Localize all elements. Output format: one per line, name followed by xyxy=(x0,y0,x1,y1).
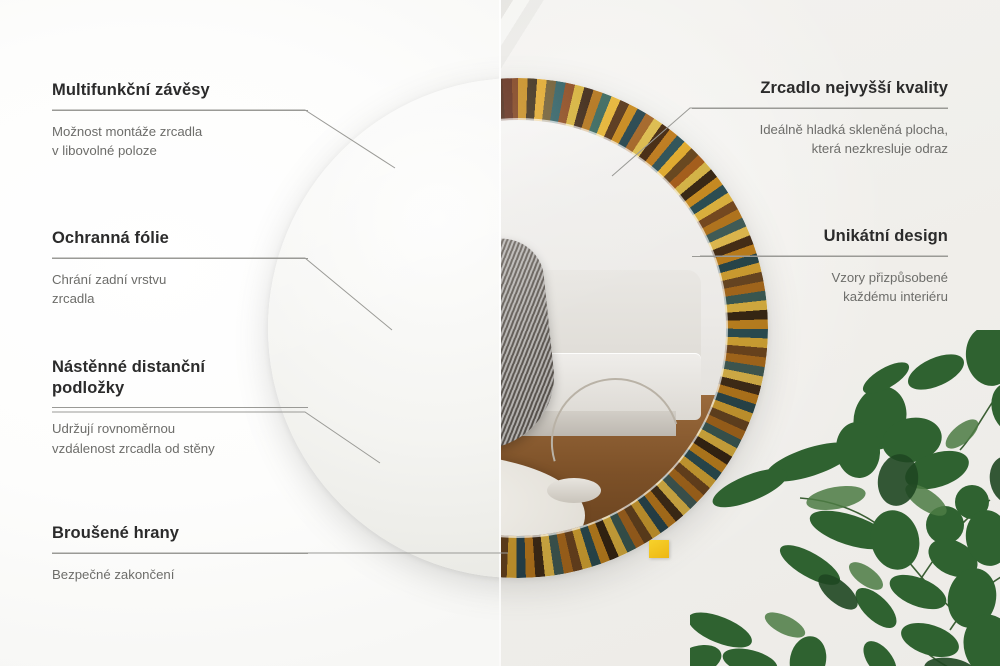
callout-title: Multifunkční závěsy xyxy=(52,80,308,101)
callout-description: Udržují rovnoměrnou vzdálenost zrcadla o… xyxy=(52,419,308,458)
callout-zrcadlo-nejvyssi-kvality: Zrcadlo nejvyšší kvality Ideálně hladká … xyxy=(692,78,948,158)
callout-title: Nástěnné distanční podložky xyxy=(52,357,308,398)
callout-multifunkcni-zavesy: Multifunkční závěsy Možnost montáže zrca… xyxy=(52,80,308,160)
callout-rule xyxy=(52,553,308,554)
callout-ochranna-folie: Ochranná fólie Chrání zadní vrstvu zrcad… xyxy=(52,228,308,308)
callout-title: Ochranná fólie xyxy=(52,228,308,249)
callout-title: Broušené hrany xyxy=(52,523,308,544)
callout-description: Vzory přizpůsobené každému interiéru xyxy=(692,268,948,307)
product-infographic: Multifunkční závěsy Možnost montáže zrca… xyxy=(0,0,1000,666)
panel-divider xyxy=(499,0,501,666)
callout-description: Možnost montáže zrcadla v libovolné polo… xyxy=(52,122,308,161)
callout-unikatni-design: Unikátní design Vzory přizpůsobené každé… xyxy=(692,226,948,306)
callout-rule xyxy=(52,407,308,408)
callout-brousene-hrany: Broušené hrany Bezpečné zakončení xyxy=(52,523,308,584)
callout-description: Ideálně hladká skleněná plocha, která ne… xyxy=(692,120,948,159)
callout-description: Chrání zadní vrstvu zrcadla xyxy=(52,270,308,309)
callout-rule xyxy=(52,258,308,259)
spacer-pad xyxy=(649,540,669,558)
callout-nastenne-distancni-podlozky: Nástěnné distanční podložky Udržují rovn… xyxy=(52,357,308,458)
callout-rule xyxy=(52,110,308,111)
callout-title: Unikátní design xyxy=(692,226,948,247)
callout-title: Zrcadlo nejvyšší kvality xyxy=(692,78,948,99)
callout-description: Bezpečné zakončení xyxy=(52,565,308,584)
callout-rule xyxy=(692,108,948,109)
callout-rule xyxy=(692,256,948,257)
